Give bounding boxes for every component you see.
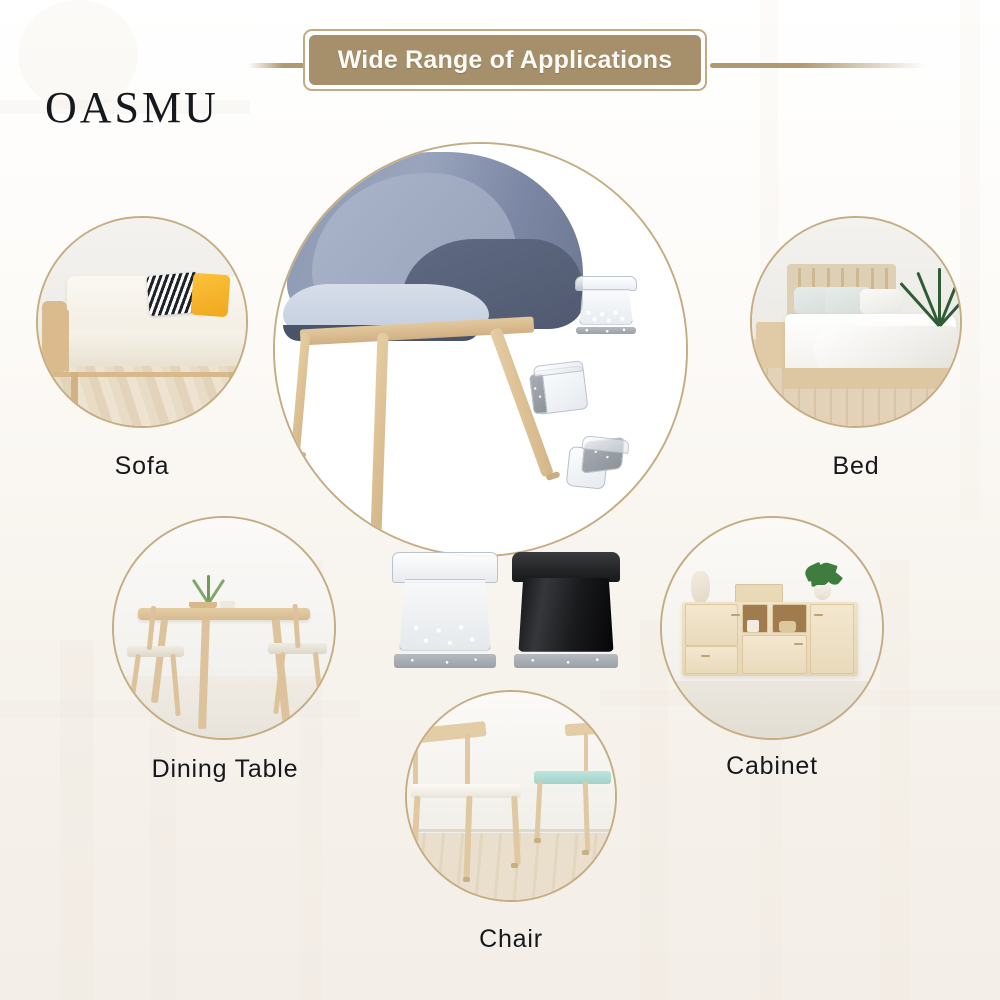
application-circle-sofa: [36, 216, 248, 428]
product-cap-clear-upright: [575, 276, 637, 334]
sofa-scene: [38, 218, 246, 426]
label-sofa: Sofa: [36, 452, 248, 481]
cabinet-door: [742, 635, 807, 674]
cabinet-handle: [814, 614, 823, 616]
sofa-wooden-armrest: [42, 301, 67, 372]
sofa-leg-left: [71, 372, 78, 418]
application-circle-chair: [405, 690, 617, 902]
label-cabinet: Cabinet: [660, 752, 884, 781]
wooden-tray: [735, 584, 783, 604]
nightstand: [756, 322, 787, 368]
shelf-basket: [779, 621, 797, 632]
product-black-leg-cap: [512, 552, 620, 668]
product-clear-leg-cap: [392, 552, 498, 668]
label-dining-table: Dining Table: [100, 755, 350, 784]
cabinet-body: [682, 602, 858, 677]
brand-logo: OASMU: [45, 82, 219, 133]
sofa-leg-right: [229, 372, 236, 405]
cap-felt-base: [514, 654, 618, 668]
cap-grip-dots: [405, 622, 486, 652]
sofa-spindle: [57, 310, 61, 372]
cabinet-scene: [662, 518, 882, 738]
cabinet-handle: [731, 614, 740, 616]
chair-seat-mint: [534, 771, 611, 783]
cap-grip-dots: [582, 310, 629, 325]
yellow-pillow: [191, 273, 231, 317]
cap-felt-base: [394, 654, 496, 668]
application-circle-cabinet: [660, 516, 884, 740]
cap-rim: [575, 276, 637, 292]
cap-body: [518, 578, 613, 652]
application-circle-dining-table: [112, 516, 336, 740]
label-bed: Bed: [750, 452, 962, 481]
bed-frame-rail: [783, 368, 960, 389]
chair-foot-cap: [511, 863, 518, 868]
chair-foot-cap: [463, 877, 470, 882]
dining-table-scene: [114, 518, 334, 738]
potted-plant: [923, 268, 956, 326]
banner-frame: Wide Range of Applications: [303, 29, 707, 91]
cap-rim: [392, 552, 498, 583]
sofa-seat-cushion: [59, 330, 248, 365]
center-feature-circle: [273, 142, 688, 557]
sofa-spindle: [65, 310, 69, 372]
shelf-cup: [747, 620, 759, 633]
chair-scene: [407, 692, 615, 900]
chair-foot-center: [370, 530, 384, 536]
chair-leg-center: [370, 333, 388, 535]
bed-scene: [752, 218, 960, 426]
chair-leg-front-left: [290, 333, 310, 457]
header-rule-right: [710, 63, 925, 68]
sofa-spindle: [48, 310, 52, 372]
cabinet-drawer: [685, 646, 738, 674]
chair-foot-cap: [534, 838, 541, 843]
potted-plant: [801, 562, 845, 604]
banner-title: Wide Range of Applications: [338, 46, 673, 75]
application-circle-bed: [750, 216, 962, 428]
cap-felt-base: [576, 327, 636, 334]
floor: [114, 676, 334, 738]
chair-foot-front-left: [292, 452, 306, 458]
cabinet-door: [685, 604, 738, 646]
product-cap-clear-tilted-a: [527, 358, 595, 421]
label-chair: Chair: [405, 925, 617, 954]
pillow: [860, 289, 902, 314]
floor: [662, 681, 882, 738]
chair-foot-cap: [582, 850, 589, 855]
vase: [691, 571, 711, 604]
hero-scene: [275, 144, 686, 555]
product-cap-clear-tilted-b: [564, 433, 634, 497]
banner-fill: Wide Range of Applications: [309, 35, 701, 85]
plant-pot: [814, 585, 832, 600]
